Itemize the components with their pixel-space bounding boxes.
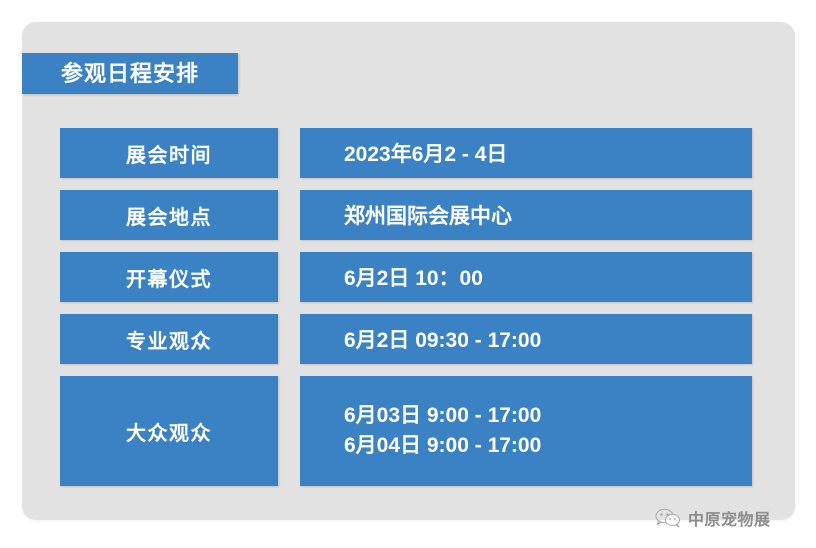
row-value-trade-visitors: 6月2日 09:30 - 17:00 (300, 314, 752, 364)
table-row: 专业观众 6月2日 09:30 - 17:00 (60, 314, 752, 364)
wechat-account-name: 中原宠物展 (688, 506, 771, 530)
page-title: 参观日程安排 (61, 63, 199, 85)
wechat-icon (655, 508, 681, 528)
row-value-venue: 郑州国际会展中心 (300, 190, 752, 240)
page-title-banner: 参观日程安排 (22, 53, 238, 94)
table-row: 开幕仪式 6月2日 10：00 (60, 252, 752, 302)
table-row: 展会地点 郑州国际会展中心 (60, 190, 752, 240)
row-value-public-visitors-line2: 6月04日 9:00 - 17:00 (344, 431, 541, 461)
table-row: 大众观众 6月03日 9:00 - 17:00 6月04日 9:00 - 17:… (60, 376, 752, 486)
row-label-exhibition-date: 展会时间 (60, 128, 278, 178)
row-label-trade-visitors: 专业观众 (60, 314, 278, 364)
table-row: 展会时间 2023年6月2 - 4日 (60, 128, 752, 178)
row-value-public-visitors: 6月03日 9:00 - 17:00 6月04日 9:00 - 17:00 (300, 376, 752, 486)
row-value-exhibition-date: 2023年6月2 - 4日 (300, 128, 752, 178)
row-value-opening-ceremony: 6月2日 10：00 (300, 252, 752, 302)
row-value-public-visitors-line1: 6月03日 9:00 - 17:00 (344, 401, 541, 431)
schedule-table: 展会时间 2023年6月2 - 4日 展会地点 郑州国际会展中心 开幕仪式 6月… (60, 128, 752, 486)
row-label-public-visitors: 大众观众 (60, 376, 278, 486)
row-label-venue: 展会地点 (60, 190, 278, 240)
row-label-opening-ceremony: 开幕仪式 (60, 252, 278, 302)
wechat-account-branding: 中原宠物展 (655, 506, 771, 530)
